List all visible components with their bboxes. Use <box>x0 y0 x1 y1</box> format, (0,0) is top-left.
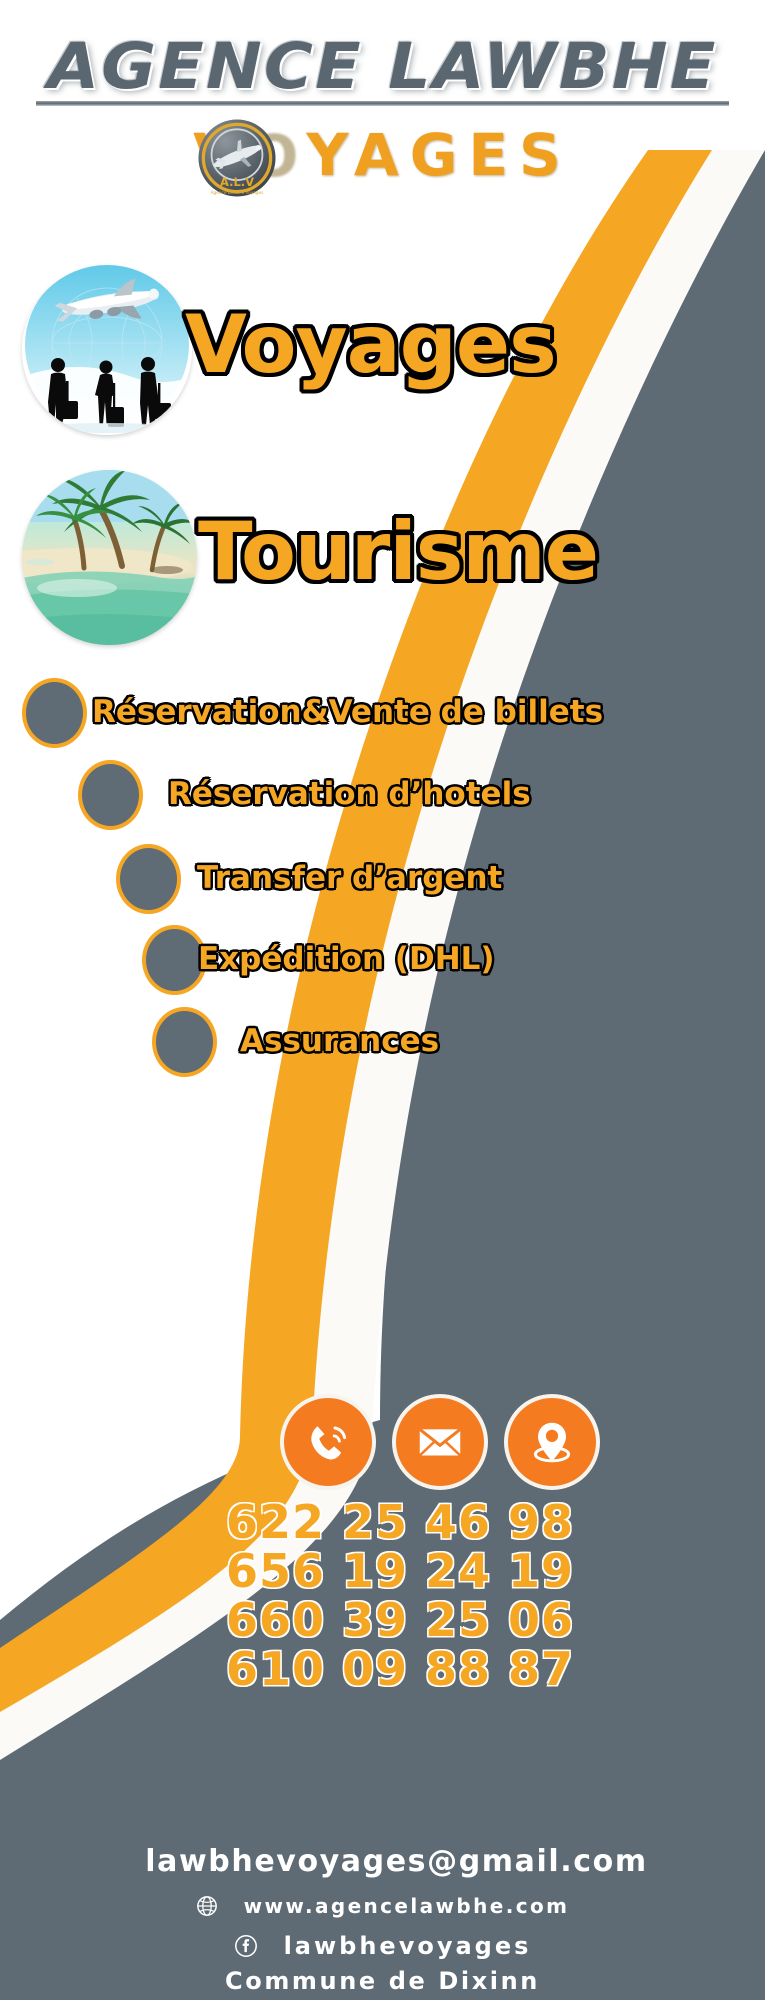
phone-number[interactable]: 622 25 46 98 <box>0 1498 765 1547</box>
service-label-1: Réservation&Vente de billets <box>92 694 603 730</box>
badge-text: A.L.V <box>220 175 254 189</box>
email-address[interactable]: lawbhevoyages@gmail.com <box>0 1844 765 1879</box>
logo-word-right: YAGES <box>306 121 571 189</box>
logo-wordmark: VOYAGES <box>0 110 765 200</box>
service-bullet-1 <box>22 678 87 748</box>
banner-header: AGENCE LAWBHE VOYAGES A.L.V Agence Lawbh… <box>0 0 765 215</box>
phone-number-list: 622 25 46 98 656 19 24 19 660 39 25 06 6… <box>0 1498 765 1694</box>
footer-contact-block: www.agencelawbhe.com lawbhevoyages Commu… <box>0 1888 765 2000</box>
location-pin-icon[interactable] <box>504 1394 600 1490</box>
tropical-beach-palms-photo <box>22 470 197 645</box>
alv-logo-badge: A.L.V Agence Lawbhe Voyages <box>196 117 278 199</box>
phone-number[interactable]: 660 39 25 06 <box>0 1596 765 1645</box>
contact-icon-row <box>280 1392 600 1492</box>
roll-up-banner: AGENCE LAWBHE VOYAGES A.L.V Agence Lawbh… <box>0 0 765 2000</box>
phone-number[interactable]: 656 19 24 19 <box>0 1547 765 1596</box>
phone-number[interactable]: 610 09 88 87 <box>0 1645 765 1694</box>
service-label-3: Transfer d’argent <box>197 860 502 896</box>
badge-subtext: Agence Lawbhe Voyages <box>211 190 264 196</box>
section-title-tourisme: Tourisme <box>198 505 598 598</box>
facebook-handle[interactable]: lawbhevoyages <box>284 1932 532 1960</box>
service-bullet-3 <box>116 844 181 914</box>
address-line-1: Commune de Dixinn <box>225 1967 540 1995</box>
globe-icon <box>196 1895 218 1917</box>
service-label-4: Expédition (DHL) <box>198 941 495 977</box>
section-title-voyages: Voyages <box>185 298 556 391</box>
phone-icon[interactable] <box>280 1394 376 1490</box>
service-label-5: Assurances <box>240 1023 439 1059</box>
envelope-icon[interactable] <box>392 1394 488 1490</box>
agency-name: AGENCE LAWBHE <box>0 30 765 103</box>
website-url[interactable]: www.agencelawbhe.com <box>244 1894 570 1918</box>
airplane-travelers-photo <box>22 265 192 435</box>
service-bullet-2 <box>78 760 143 830</box>
service-label-2: Réservation d’hotels <box>168 776 531 812</box>
facebook-icon <box>234 1934 258 1958</box>
title-divider <box>36 101 729 106</box>
service-bullet-5 <box>152 1007 217 1077</box>
